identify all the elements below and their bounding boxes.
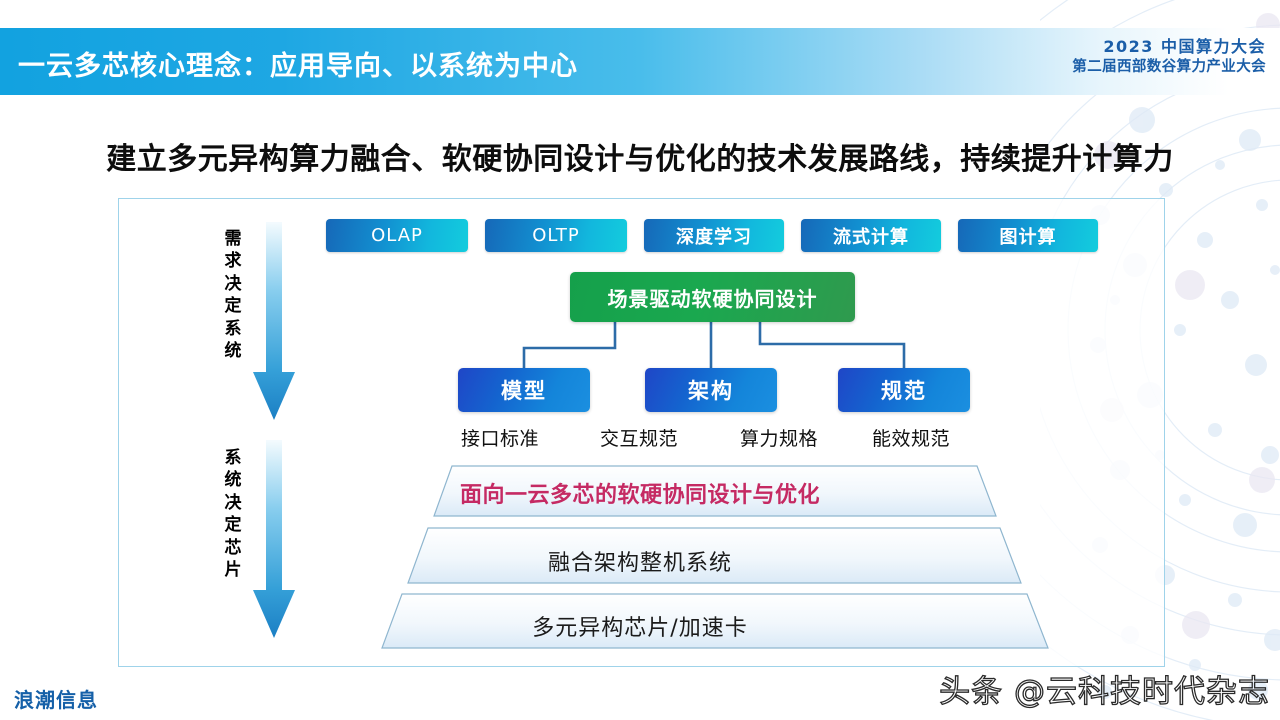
vchar: 定	[220, 514, 246, 536]
green-node-scenario-driven-design[interactable]: 场景驱动软硬协同设计	[570, 272, 855, 322]
vchar: 统	[220, 340, 246, 362]
flow-label-demand-decides-system: 需 求 决 定 系 统	[220, 228, 246, 363]
workload-pill-row: OLAP OLTP 深度学习 流式计算 图计算	[326, 219, 1098, 252]
pill-graph-computing[interactable]: 图计算	[958, 219, 1098, 252]
pill-deep-learning[interactable]: 深度学习	[644, 219, 784, 252]
pyramid-label-2: 融合架构整机系统	[0, 545, 1280, 577]
sublabel-interface-standard: 接口标准	[461, 424, 539, 451]
pill-stream-computing[interactable]: 流式计算	[801, 219, 941, 252]
pyramid-label-1: 面向一云多芯的软硬协同设计与优化	[0, 477, 1280, 509]
pyramid-label-3: 多元异构芯片/加速卡	[0, 610, 1280, 642]
watermark: 头条 @云科技时代杂志	[939, 666, 1270, 711]
pill-oltp[interactable]: OLTP	[485, 219, 627, 252]
vchar: 决	[220, 273, 246, 295]
conference-branding: 2023 中国算力大会 第二届西部数谷算力产业大会	[1072, 36, 1266, 77]
vchar: 需	[220, 228, 246, 250]
conference-line-1: 2023 中国算力大会	[1072, 36, 1266, 58]
conference-line-2: 第二届西部数谷算力产业大会	[1072, 58, 1266, 78]
brand-logo-inspur: 浪潮信息	[14, 684, 98, 713]
sublabel-compute-spec: 算力规格	[740, 424, 818, 451]
blue-node-architecture[interactable]: 架构	[645, 368, 777, 412]
sublabel-interaction-spec: 交互规范	[600, 424, 678, 451]
vchar: 系	[220, 447, 246, 469]
blue-node-model[interactable]: 模型	[458, 368, 590, 412]
vchar: 求	[220, 250, 246, 272]
pill-olap[interactable]: OLAP	[326, 219, 468, 252]
blue-node-specification[interactable]: 规范	[838, 368, 970, 412]
vchar: 系	[220, 318, 246, 340]
vchar: 定	[220, 295, 246, 317]
sublabel-efficiency-spec: 能效规范	[872, 424, 950, 451]
subtitle: 建立多元异构算力融合、软硬协同设计与优化的技术发展路线，持续提升计算力	[0, 134, 1280, 178]
flow-arrow-demand	[252, 222, 296, 422]
page-title: 一云多芯核心理念：应用导向、以系统为中心	[18, 44, 578, 83]
